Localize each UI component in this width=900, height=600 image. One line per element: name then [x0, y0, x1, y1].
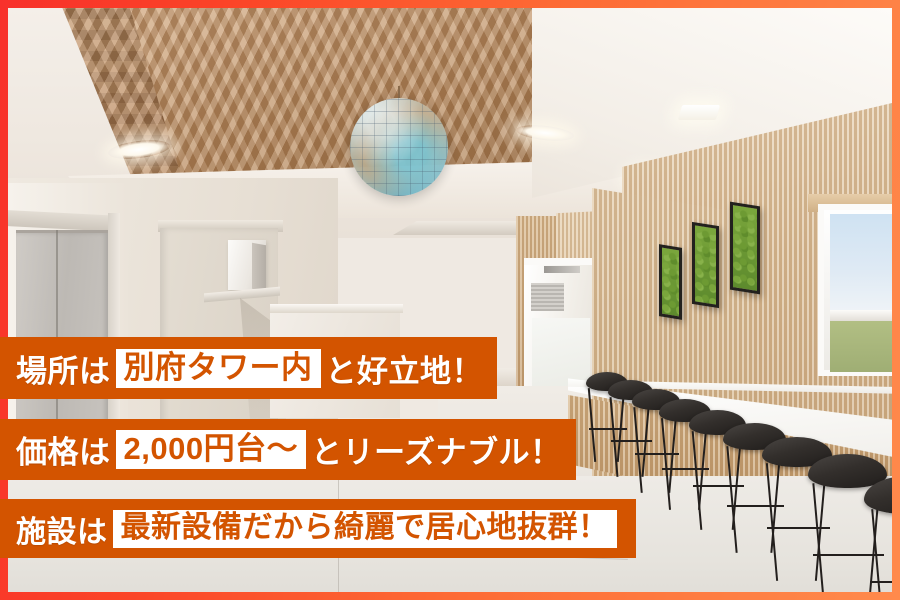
booth-sign: [544, 266, 580, 273]
callout-prefix: 施設は: [16, 507, 108, 551]
callout-bar-facility: 施設は 最新設備だから綺麗で居心地抜群！: [0, 499, 636, 558]
moss-wall-panel: [659, 244, 682, 320]
booth-vent-grille: [531, 283, 564, 311]
callout-suffix: とリーズナブル！: [311, 427, 561, 472]
callout-highlight: 2,000円台〜: [116, 430, 307, 469]
callout-prefix: 価格は: [16, 427, 111, 472]
callout-suffix: と好立地！: [326, 346, 484, 391]
window-mullion: [830, 310, 892, 321]
globe-grid-overlay: [350, 98, 448, 196]
square-ceiling-light-icon: [678, 105, 720, 120]
range-hood-side: [252, 243, 266, 291]
promo-banner: 場所は 別府タワー内 と好立地！ 価格は 2,000円台〜 とリーズナブル！ 施…: [0, 0, 900, 600]
window-grass-view: [830, 320, 892, 372]
callout-bar-location: 場所は 別府タワー内 と好立地！: [0, 337, 497, 399]
callout-prefix: 場所は: [16, 346, 111, 391]
window-sky-view: [830, 214, 892, 310]
moss-wall-panel: [730, 202, 760, 295]
callout-highlight: 最新設備だから綺麗で居心地抜群！: [113, 510, 617, 548]
white-partition-top: [270, 304, 403, 313]
callout-highlight: 別府タワー内: [116, 349, 321, 388]
moss-wall-panel: [692, 222, 719, 308]
callout-bar-price: 価格は 2,000円台〜 とリーズナブル！: [0, 419, 576, 480]
